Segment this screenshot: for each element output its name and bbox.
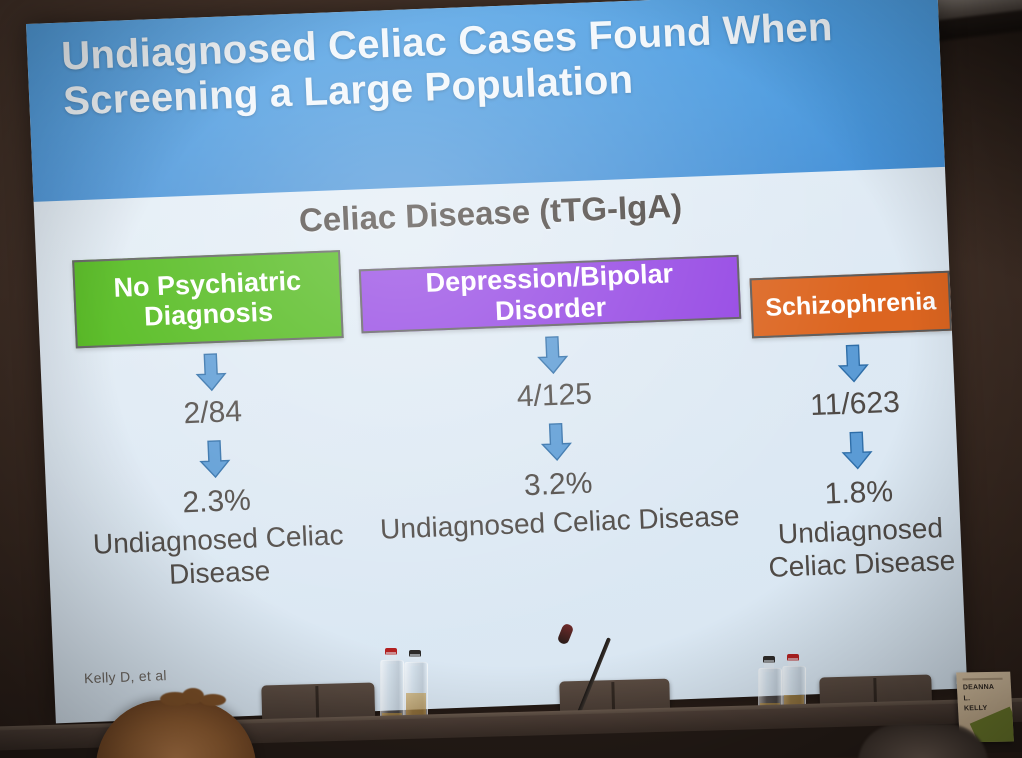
caption-1: Undiagnosed Celiac Disease (84, 518, 355, 594)
group-box-schizophrenia: Schizophrenia (750, 271, 952, 339)
down-arrow-icon (839, 430, 875, 471)
percent-value-1: 2.3% (82, 480, 351, 524)
percent-value-3: 1.8% (758, 473, 959, 515)
fraction-value-3: 11/623 (754, 384, 955, 426)
column-no-psychiatric-diagnosis: No Psychiatric Diagnosis 2/84 2.3% Undia… (72, 250, 354, 594)
down-arrow-icon (197, 438, 233, 479)
down-arrow-icon (835, 343, 871, 384)
slide-title: Undiagnosed Celiac Cases Found When Scre… (60, 2, 923, 125)
presentation-photo: Undiagnosed Celiac Cases Found When Scre… (0, 0, 1022, 758)
fraction-value-2: 4/125 (364, 372, 745, 421)
group-box-no-psychiatric-diagnosis: No Psychiatric Diagnosis (72, 250, 344, 348)
slide-citation: Kelly D, et al (84, 667, 167, 686)
fraction-value-1: 2/84 (78, 391, 347, 435)
column-depression-bipolar-disorder: Depression/Bipolar Disorder 4/125 3.2% U… (359, 255, 751, 546)
down-arrow-icon (539, 421, 575, 462)
down-arrow-icon (193, 352, 229, 393)
slide: Undiagnosed Celiac Cases Found When Scre… (26, 0, 967, 723)
group-box-depression-bipolar-disorder: Depression/Bipolar Disorder (359, 255, 741, 334)
caption-3: Undiagnosed Celiac Disease (760, 511, 963, 585)
down-arrow-icon (535, 334, 571, 375)
column-schizophrenia: Schizophrenia 11/623 1.8% Undiagnosed Ce… (750, 271, 963, 584)
projection-screen: Undiagnosed Celiac Cases Found When Scre… (26, 0, 967, 721)
slide-title-band: Undiagnosed Celiac Cases Found When Scre… (26, 0, 945, 202)
